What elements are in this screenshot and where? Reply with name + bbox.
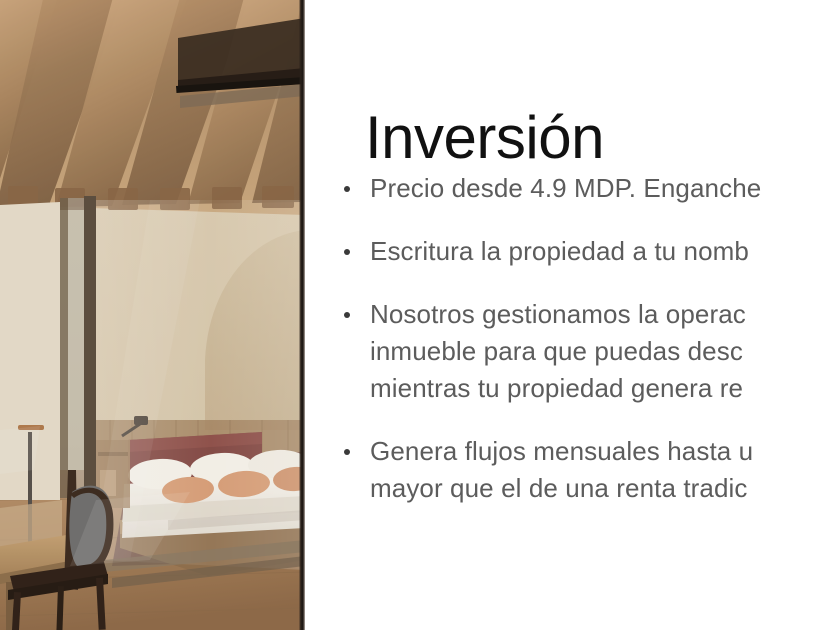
bullet-dot-icon — [344, 249, 350, 255]
bullet-dot-icon — [344, 312, 350, 318]
page-title: Inversión — [365, 106, 604, 169]
bullet-list: Precio desde 4.9 MDP. Enganche Escritura… — [342, 170, 840, 507]
bullet-line: Nosotros gestionamos la operac — [370, 296, 840, 333]
bullet-line: mayor que el de una renta tradic — [370, 470, 840, 507]
list-item: Genera flujos mensuales hasta u mayor qu… — [342, 433, 840, 507]
slide-content-panel: Inversión Precio desde 4.9 MDP. Enganche… — [305, 0, 840, 630]
bullet-line: mientras tu propiedad genera re — [370, 370, 840, 407]
bullet-line: Genera flujos mensuales hasta u — [370, 433, 840, 470]
slide-root: Inversión Precio desde 4.9 MDP. Enganche… — [0, 0, 840, 630]
bullet-line: Precio desde 4.9 MDP. Enganche — [370, 170, 840, 207]
interior-render-illustration — [0, 0, 305, 630]
bullet-dot-icon — [344, 449, 350, 455]
bullet-dot-icon — [344, 186, 350, 192]
list-item: Nosotros gestionamos la operac inmueble … — [342, 296, 840, 407]
list-item: Precio desde 4.9 MDP. Enganche — [342, 170, 840, 207]
interior-render-photo — [0, 0, 305, 630]
bullet-line: Escritura la propiedad a tu nomb — [370, 233, 840, 270]
bullet-line: inmueble para que puedas desc — [370, 333, 840, 370]
list-item: Escritura la propiedad a tu nomb — [342, 233, 840, 270]
